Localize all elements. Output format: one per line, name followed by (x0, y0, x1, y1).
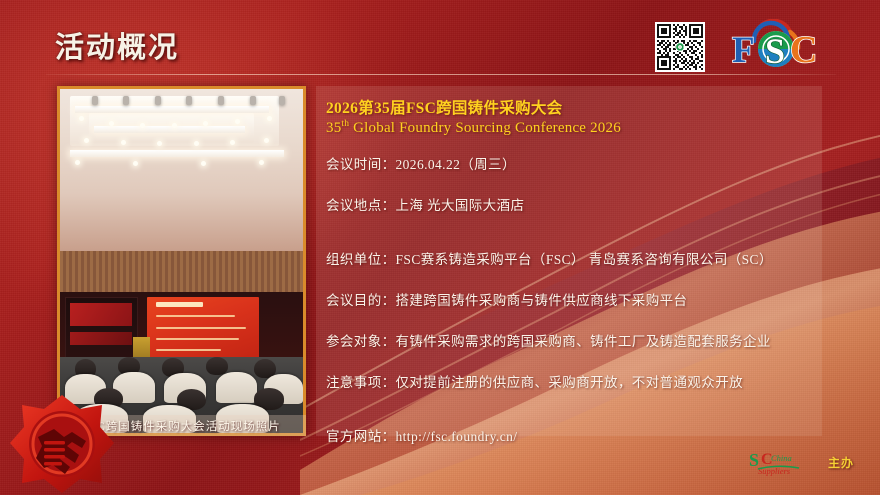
event-title-en-prefix: 35 (326, 120, 341, 136)
info-row-organizer: 组织单位：FSC赛系铸造采购平台（FSC） 青岛赛系咨询有限公司（SC） (326, 248, 822, 268)
header-divider (46, 74, 836, 75)
handshake-seal-emblem (8, 393, 116, 495)
info-value-website[interactable]: http://fsc.foundry.cn/ (396, 429, 518, 444)
sponsor-label: 主办 (828, 454, 854, 471)
info-label-time: 会议时间： (326, 157, 396, 172)
info-row-time: 会议时间：2026.04.22（周三） (326, 153, 822, 173)
info-label-purpose: 会议目的： (326, 293, 396, 308)
event-title-en: 35th Global Foundry Sourcing Conference … (326, 119, 822, 137)
info-row-venue: 会议地点：上海 光大国际大酒店 (326, 194, 822, 214)
sc-china-suppliers-logo: S C China Suppliers (748, 446, 824, 480)
info-label-venue: 会议地点： (326, 198, 396, 213)
info-value-purpose: 搭建跨国铸件采购商与铸件供应商线下采购平台 (396, 293, 688, 308)
info-row-notes: 注意事项：仅对提前注册的供应商、采购商开放，不对普通观众开放 (326, 371, 822, 391)
info-label-website: 官方网站： (326, 429, 396, 444)
photo-main-screen (147, 297, 259, 362)
sponsor-block: S C China Suppliers 主办 (748, 446, 868, 482)
photo-side-banner (65, 297, 138, 366)
svg-text:F: F (732, 30, 755, 71)
slide-root: 活动概况 (0, 0, 880, 495)
info-row-attendees: 参会对象：有铸件采购需求的跨国采购商、铸件工厂及铸造配套服务企业 (326, 330, 822, 350)
event-title-cn: 2026第35届FSC跨国铸件采购大会 (326, 96, 822, 118)
page-title: 活动概况 (55, 24, 179, 66)
info-value-time: 2026.04.22（周三） (396, 157, 516, 172)
event-info-panel: 2026第35届FSC跨国铸件采购大会 35th Global Foundry … (316, 86, 822, 436)
info-label-notes: 注意事项： (326, 375, 396, 390)
svg-text:S: S (765, 31, 785, 71)
info-value-notes: 仅对提前注册的供应商、采购商开放，不对普通观众开放 (396, 375, 744, 390)
fsc-logo: F S C (728, 19, 828, 75)
svg-text:China: China (771, 453, 792, 463)
wechat-qr-code[interactable] (655, 22, 705, 72)
event-title-en-rest: Global Foundry Sourcing Conference 2026 (349, 120, 621, 136)
info-value-organizer: FSC赛系铸造采购平台（FSC） 青岛赛系咨询有限公司（SC） (396, 252, 773, 267)
info-label-attendees: 参会对象： (326, 334, 396, 349)
svg-text:C: C (790, 29, 817, 71)
info-row-website[interactable]: 官方网站：http://fsc.foundry.cn/ (326, 425, 822, 445)
info-value-attendees: 有铸件采购需求的跨国采购商、铸件工厂及铸造配套服务企业 (396, 334, 771, 349)
conference-photo (57, 86, 306, 436)
info-row-purpose: 会议目的：搭建跨国铸件采购商与铸件供应商线下采购平台 (326, 289, 822, 309)
info-label-organizer: 组织单位： (326, 252, 396, 267)
qr-code-pattern (657, 24, 703, 70)
info-value-venue: 上海 光大国际大酒店 (396, 198, 525, 213)
photo-ceiling (60, 89, 303, 258)
